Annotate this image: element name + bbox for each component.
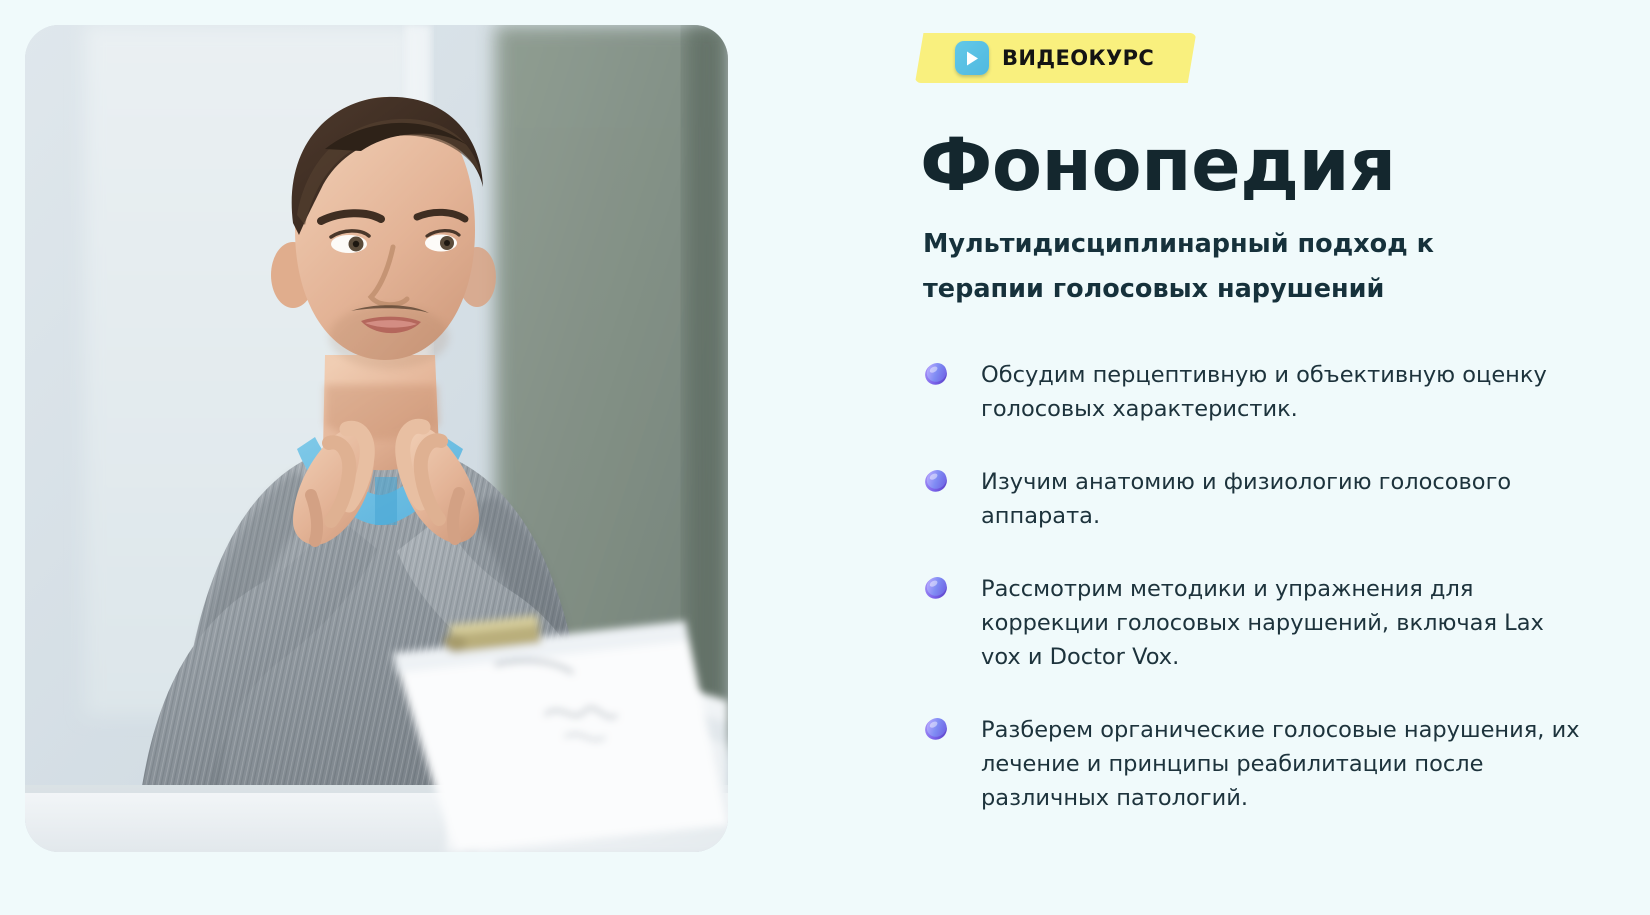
list-item: Рассмотрим методики и упражнения для кор…	[923, 572, 1583, 674]
list-item: Обсудим перцептивную и объективную оценк…	[923, 358, 1583, 426]
page-subtitle: Мультидисциплинарный подход к терапии го…	[923, 222, 1563, 312]
course-highlights-list: Обсудим перцептивную и объективную оценк…	[923, 358, 1583, 815]
sphere-bullet-icon	[923, 715, 949, 741]
list-item-text: Рассмотрим методики и упражнения для кор…	[981, 572, 1583, 674]
play-icon	[955, 41, 989, 75]
badge-label: ВИДЕОКУРС	[1002, 46, 1154, 70]
sphere-bullet-icon	[923, 360, 949, 386]
sphere-bullet-icon	[923, 574, 949, 600]
list-item: Разберем органические голосовые нарушени…	[923, 713, 1583, 815]
page-title: Фонопедия	[920, 124, 1396, 208]
list-item-text: Обсудим перцептивную и объективную оценк…	[981, 358, 1583, 426]
course-photo	[25, 25, 728, 852]
sphere-bullet-icon	[923, 467, 949, 493]
course-info-panel: ВИДЕОКУРС Фонопедия Мультидисциплинарный…	[915, 0, 1615, 915]
promo-page: ВИДЕОКУРС Фонопедия Мультидисциплинарный…	[0, 0, 1650, 915]
badge-body: ВИДЕОКУРС	[915, 33, 1196, 83]
list-item-text: Разберем органические голосовые нарушени…	[981, 713, 1583, 815]
video-course-badge: ВИДЕОКУРС	[915, 33, 1196, 83]
list-item-text: Изучим анатомию и физиологию голосового …	[981, 465, 1583, 533]
list-item: Изучим анатомию и физиологию голосового …	[923, 465, 1583, 533]
